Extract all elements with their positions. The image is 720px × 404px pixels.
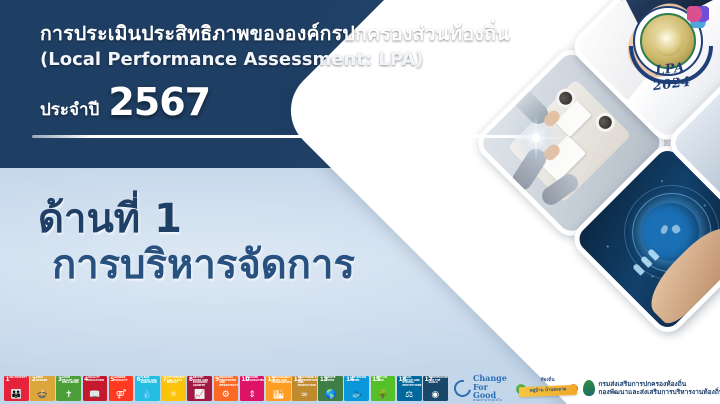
sdg-glyph: 🐟 bbox=[344, 391, 369, 400]
sdg-title: PARTNERSHIPS FOR THE GOALS bbox=[429, 377, 447, 385]
sdg-title: GENDER EQUALITY bbox=[114, 377, 132, 382]
sdg-title: INDUSTRY, INNOVATION AND INFRASTRUCTURE bbox=[219, 377, 237, 388]
pinwheel-star-icon bbox=[687, 6, 709, 28]
sdg-title: LIFE ON LAND bbox=[376, 377, 394, 382]
sdg-glyph: 💧 bbox=[135, 391, 160, 400]
sdg-glyph: ⚤ bbox=[109, 391, 134, 400]
sdg-title: QUALITY EDUCATION bbox=[88, 377, 106, 382]
sdg-icon-16: 16 PEACE, JUSTICE AND STRONG INSTITUTION… bbox=[397, 376, 422, 401]
assessment-title-thai: การประเมินประสิทธิภาพขององค์กรปกครองส่วน… bbox=[40, 22, 560, 46]
sdg-glyph: 🏙 bbox=[266, 391, 291, 400]
lpa-presentation-slide: การประเมินประสิทธิภาพขององค์กรปกครองส่วน… bbox=[0, 0, 720, 404]
sdg-icon-7: 7 AFFORDABLE AND CLEAN ENERGY ☼ bbox=[161, 376, 186, 401]
sdg-glyph: 🍲 bbox=[30, 391, 55, 400]
sdg-title: PEACE, JUSTICE AND STRONG INSTITUTIONS bbox=[402, 377, 420, 388]
sdg-icon-6: 6 CLEAN WATER AND SANITATION 💧 bbox=[135, 376, 160, 401]
change-for-good-logo: Change For Good คนมหาดไทยใส่ใจ bbox=[454, 376, 513, 401]
thai-ribbon-logo: ท้องถิ่น หมู่บ้าน บ้านสะอาด bbox=[519, 375, 576, 401]
sdg-title: REDUCED INEQUALITIES bbox=[245, 377, 263, 382]
year-value: 2567 bbox=[108, 85, 210, 119]
sdg-glyph: ◉ bbox=[423, 391, 448, 400]
sdg-icon-4: 4 QUALITY EDUCATION 📖 bbox=[83, 376, 108, 401]
year-label: ประจำปี bbox=[40, 96, 99, 123]
sdg-glyph: ⚙ bbox=[214, 391, 239, 400]
sdg-icon-11: 11 SUSTAINABLE CITIES AND COMMUNITIES 🏙 bbox=[266, 376, 291, 401]
sdg-icon-9: 9 INDUSTRY, INNOVATION AND INFRASTRUCTUR… bbox=[214, 376, 239, 401]
sdg-glyph: 🌎 bbox=[318, 391, 343, 400]
assessment-title-english: (Local Performance Assessment: LPA) bbox=[40, 48, 560, 72]
section-number-label: ด้านที่ 1 bbox=[38, 198, 355, 240]
header-divider-rule bbox=[32, 135, 532, 138]
sdg-icon-12: 12 RESPONSIBLE CONSUMPTION AND PRODUCTIO… bbox=[292, 376, 317, 401]
sdg-icon-2: 2 ZERO HUNGER 🍲 bbox=[30, 376, 55, 401]
lens-flare-sparkle-icon bbox=[510, 112, 562, 164]
sdg-title: RESPONSIBLE CONSUMPTION AND PRODUCTION bbox=[298, 377, 316, 388]
sdg-icon-14: 14 LIFE BELOW WATER 🐟 bbox=[344, 376, 369, 401]
cfg-line3: คนมหาดไทยใส่ใจ bbox=[473, 399, 513, 403]
cfg-line2: For Good bbox=[473, 383, 513, 400]
sdg-icon-13: 13 CLIMATE ACTION 🌎 bbox=[318, 376, 343, 401]
sdg-icon-3: 3 GOOD HEALTH AND WELL-BEING ✝ bbox=[56, 376, 81, 401]
sdg-title: GOOD HEALTH AND WELL-BEING bbox=[62, 377, 80, 385]
sdg-glyph: ⚖ bbox=[397, 391, 422, 400]
sdg-title: CLIMATE ACTION bbox=[324, 377, 342, 382]
sdg-icon-10: 10 REDUCED INEQUALITIES ⇕ bbox=[240, 376, 265, 401]
sdg-glyph: ⇕ bbox=[240, 391, 265, 400]
sdg-icon-17: 17 PARTNERSHIPS FOR THE GOALS ◉ bbox=[423, 376, 448, 401]
header-text-block: การประเมินประสิทธิภาพขององค์กรปกครองส่วน… bbox=[40, 22, 560, 123]
year-line: ประจำปี 2567 bbox=[40, 85, 560, 123]
sdg-title: NO POVERTY bbox=[10, 377, 28, 380]
sdg-icon-15: 15 LIFE ON LAND 🌳 bbox=[371, 376, 396, 401]
sdg-title: LIFE BELOW WATER bbox=[350, 377, 368, 382]
sdg-icon-5: 5 GENDER EQUALITY ⚤ bbox=[109, 376, 134, 401]
sdg-glyph: ∞ bbox=[292, 391, 317, 400]
department-line2: กองพัฒนาและส่งเสริมการบริหารงานท้องถิ่น bbox=[598, 388, 720, 396]
sdg-glyph: ☼ bbox=[161, 391, 186, 400]
ribbon-band-text: หมู่บ้าน บ้านสะอาด bbox=[518, 385, 576, 398]
sdg-glyph: 📖 bbox=[83, 391, 108, 400]
sdg-icon-1: 1 NO POVERTY 👪 bbox=[4, 376, 29, 401]
department-credit: กรมส่งเสริมการปกครองท้องถิ่น กองพัฒนาและ… bbox=[583, 375, 720, 401]
sdg-title: CLEAN WATER AND SANITATION bbox=[140, 377, 158, 385]
section-title-label: การบริหารจัดการ bbox=[52, 242, 355, 289]
sdg-glyph: 🌳 bbox=[371, 391, 396, 400]
lpa-emblem: LPA 2024 bbox=[627, 2, 715, 94]
department-line1: กรมส่งเสริมการปกครองท้องถิ่น bbox=[598, 380, 720, 388]
sdg-title: SUSTAINABLE CITIES AND COMMUNITIES bbox=[271, 377, 289, 385]
sdg-glyph: 👪 bbox=[4, 391, 29, 400]
sdg-title: DECENT WORK AND ECONOMIC GROWTH bbox=[193, 377, 211, 388]
sdg-title: ZERO HUNGER bbox=[36, 377, 54, 382]
cfg-circle-icon bbox=[451, 377, 475, 401]
sdg-icon-8: 8 DECENT WORK AND ECONOMIC GROWTH 📈 bbox=[187, 376, 212, 401]
sdg-title: AFFORDABLE AND CLEAN ENERGY bbox=[167, 377, 185, 385]
sdg-glyph: ✝ bbox=[56, 391, 81, 400]
sdg-footer-strip: 1 NO POVERTY 👪 2 ZERO HUNGER 🍲 3 GOOD HE… bbox=[4, 375, 720, 401]
section-headline: ด้านที่ 1 การบริหารจัดการ bbox=[38, 198, 355, 290]
department-mark-icon bbox=[583, 380, 595, 396]
sdg-glyph: 📈 bbox=[187, 391, 212, 400]
